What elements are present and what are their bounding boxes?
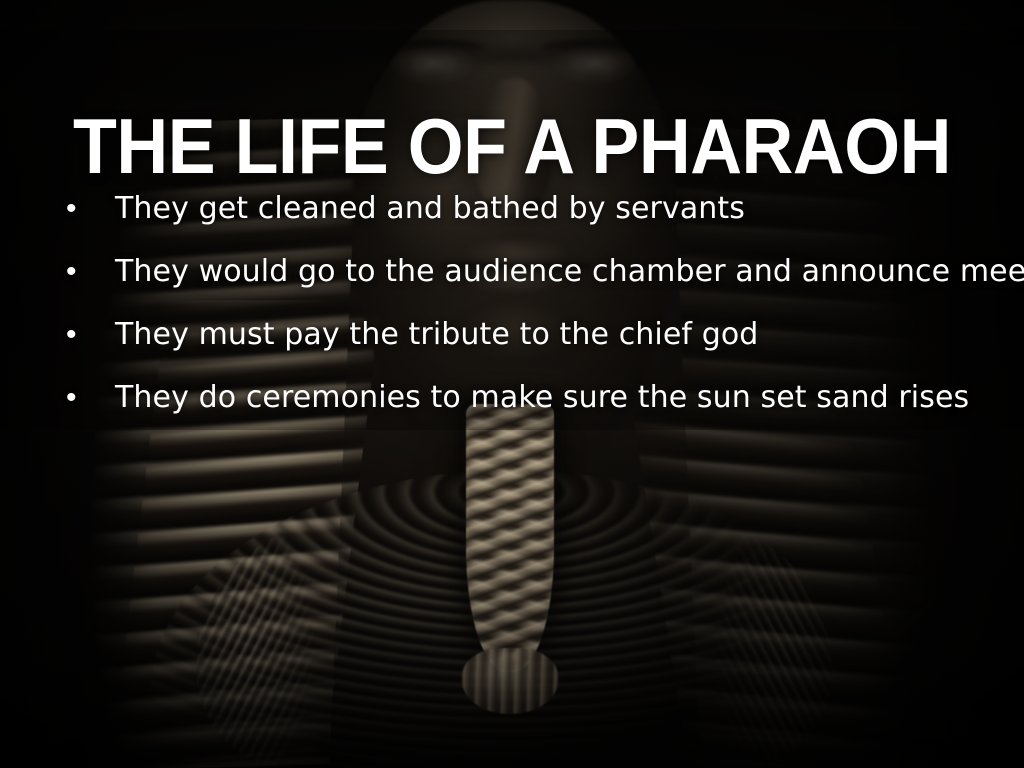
- bullet-point-icon: •: [60, 318, 115, 352]
- bullet-item-3-text: They must pay the tribute to the chief g…: [115, 318, 1020, 352]
- bullet-item-4-text: They do ceremonies to make sure the sun …: [115, 381, 1020, 415]
- bullet-item-2-text: They would go to the audience chamber an…: [115, 255, 1024, 289]
- bullet-point-icon: •: [60, 255, 115, 289]
- presentation-slide: THE LIFE OF A PHARAOH • They get cleaned…: [0, 0, 1024, 768]
- bullet-item-2: • They would go to the audience chamber …: [60, 255, 1020, 318]
- slide-content: THE LIFE OF A PHARAOH • They get cleaned…: [0, 0, 1024, 768]
- bullet-item-1: • They get cleaned and bathed by servant…: [60, 192, 1020, 255]
- slide-title: THE LIFE OF A PHARAOH: [41, 107, 983, 185]
- bullet-list: • They get cleaned and bathed by servant…: [60, 192, 1020, 444]
- bullet-item-4: • They do ceremonies to make sure the su…: [60, 381, 1020, 444]
- bullet-point-icon: •: [60, 192, 115, 226]
- bullet-item-3: • They must pay the tribute to the chief…: [60, 318, 1020, 381]
- bullet-point-icon: •: [60, 381, 115, 415]
- bullet-item-1-text: They get cleaned and bathed by servants: [115, 192, 1020, 226]
